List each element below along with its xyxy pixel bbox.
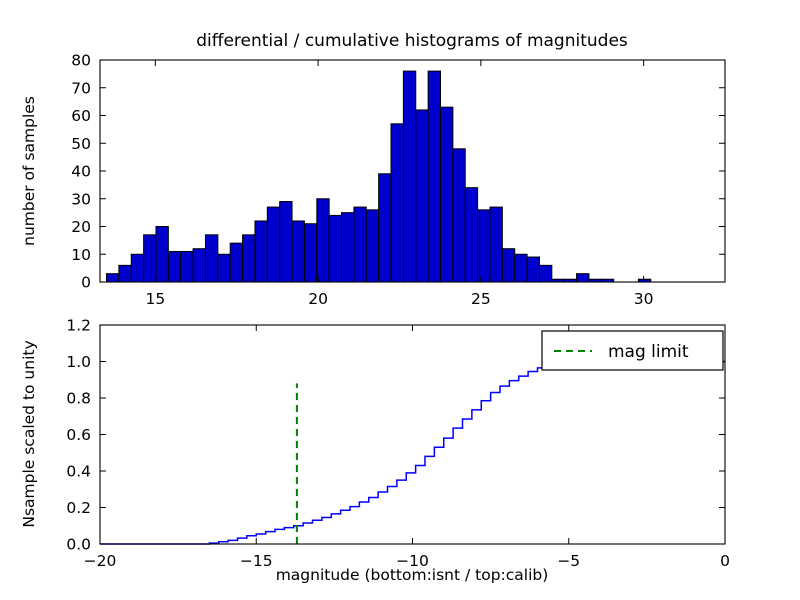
histogram-bar <box>255 221 267 282</box>
top-y-axis-label: number of samples <box>20 96 38 246</box>
bottom-x-tick-label: −5 <box>557 552 580 570</box>
histogram-bar <box>230 243 242 282</box>
histogram-bar <box>502 249 514 282</box>
histogram-bar <box>391 124 403 282</box>
top-y-tick-label: 10 <box>71 246 91 264</box>
histogram-bar <box>329 215 341 282</box>
top-y-tick-label: 20 <box>71 218 91 236</box>
histogram-bar <box>280 202 292 282</box>
figure-canvas: differential / cumulative histograms of … <box>0 0 800 600</box>
histogram-bar <box>267 207 279 282</box>
histogram-bar <box>107 274 119 282</box>
bottom-y-tick-label: 0.8 <box>66 390 91 408</box>
histogram-bar <box>119 265 131 282</box>
bottom-y-tick-label: 0.6 <box>66 426 91 444</box>
top-x-tick-label: 20 <box>308 290 328 308</box>
bottom-y-axis-label: Nsample scaled to unity <box>20 340 38 527</box>
histogram-bar <box>144 235 156 282</box>
top-y-tick-label: 30 <box>71 190 91 208</box>
histogram-bar <box>453 149 465 282</box>
histogram-bar <box>168 251 180 282</box>
histogram-bar <box>317 199 329 282</box>
histogram-bar <box>205 235 217 282</box>
top-y-tick-label: 40 <box>71 163 91 181</box>
histogram-bar <box>478 210 490 282</box>
histogram-bar <box>490 207 502 282</box>
histogram-bar <box>515 254 527 282</box>
histogram-bar <box>366 210 378 282</box>
histogram-bar <box>304 224 316 282</box>
histogram-bar <box>527 257 539 282</box>
histogram-bar <box>156 227 168 283</box>
matplotlib-figure: differential / cumulative histograms of … <box>0 0 800 600</box>
histogram-bar <box>292 221 304 282</box>
figure-background <box>0 0 800 600</box>
bottom-y-tick-label: 1.2 <box>66 317 91 335</box>
top-y-tick-label: 0 <box>81 274 91 292</box>
histogram-bar <box>440 107 452 282</box>
legend-label-mag-limit: mag limit <box>608 342 689 362</box>
top-x-tick-label: 25 <box>471 290 491 308</box>
bottom-y-tick-label: 0.4 <box>66 463 91 481</box>
top-y-tick-label: 70 <box>71 79 91 97</box>
histogram-bar <box>243 235 255 282</box>
top-x-tick-label: 30 <box>634 290 654 308</box>
bottom-y-tick-label: 1.0 <box>66 353 91 371</box>
histogram-bar <box>131 254 143 282</box>
legend[interactable]: mag limit <box>542 331 723 370</box>
chart-title: differential / cumulative histograms of … <box>196 31 628 51</box>
bottom-y-tick-label: 0.0 <box>66 536 91 554</box>
histogram-bar <box>379 174 391 282</box>
histogram-bar <box>354 207 366 282</box>
top-y-tick-label: 60 <box>71 107 91 125</box>
top-y-tick-label: 50 <box>71 135 91 153</box>
histogram-bar <box>181 251 193 282</box>
bottom-x-tick-label: −15 <box>240 552 273 570</box>
bottom-x-tick-label: −20 <box>84 552 117 570</box>
histogram-bar <box>539 265 551 282</box>
histogram-bar <box>403 71 415 282</box>
bottom-x-tick-label: 0 <box>720 552 730 570</box>
histogram-bar <box>577 274 589 282</box>
top-x-tick-label: 15 <box>145 290 165 308</box>
histogram-bar <box>416 110 428 282</box>
histogram-bar <box>342 213 354 282</box>
histogram-bar <box>428 71 440 282</box>
x-axis-label: magnitude (bottom:isnt / top:calib) <box>276 566 549 584</box>
histogram-bar <box>465 188 477 282</box>
histogram-bar <box>218 254 230 282</box>
bottom-y-tick-label: 0.2 <box>66 499 91 517</box>
top-y-tick-label: 80 <box>71 52 91 70</box>
histogram-bar <box>193 249 205 282</box>
